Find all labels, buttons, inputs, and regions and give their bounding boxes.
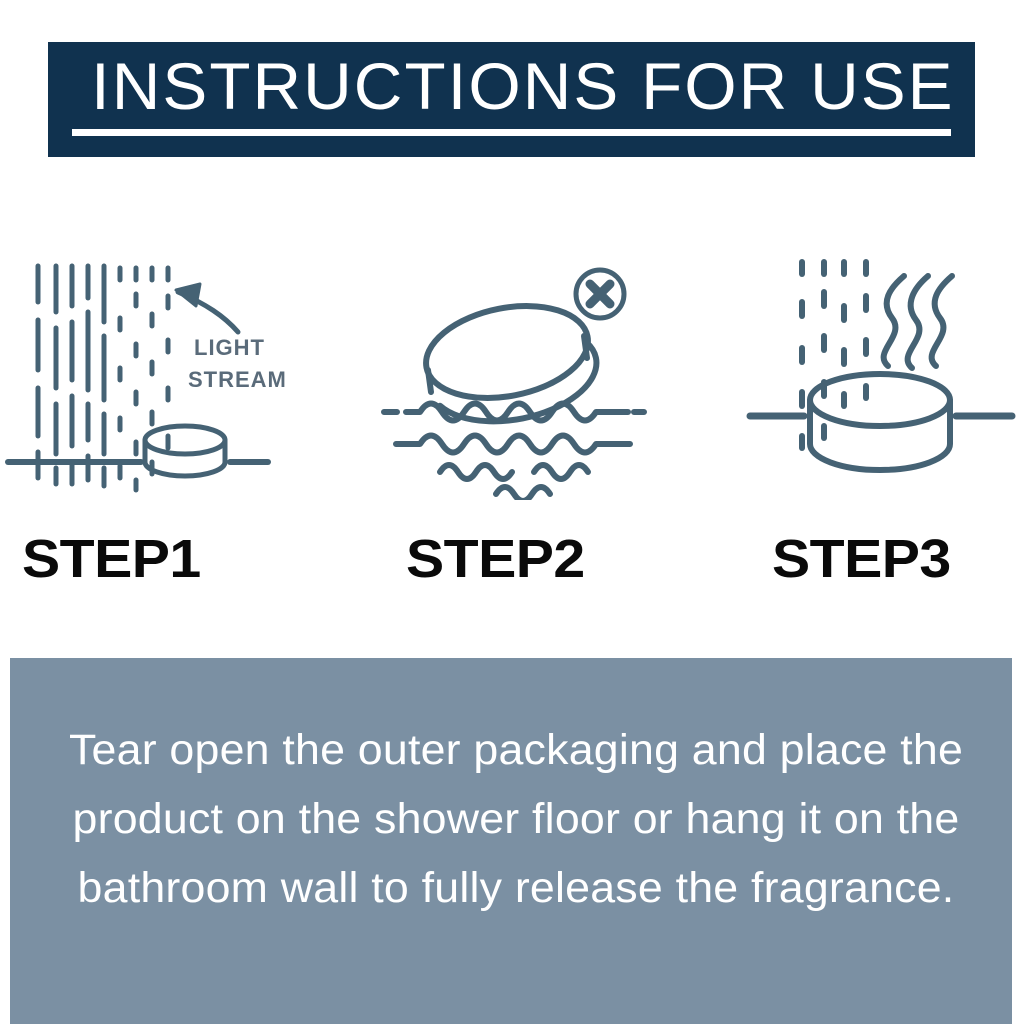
description-line-2: product on the shower floor or hang it o… — [48, 785, 984, 854]
step3-label: STEP3 — [772, 528, 951, 590]
step-icons-row: LIGHT STREAM — [0, 240, 1024, 500]
title-underline-rule — [72, 129, 951, 136]
up-left-arrow — [176, 284, 238, 332]
step1-illustration: LIGHT STREAM — [0, 240, 300, 500]
description-text: Tear open the outer packaging and place … — [48, 716, 984, 923]
disc-puck — [145, 426, 225, 476]
shower-stream-with-disc-icon: LIGHT STREAM — [0, 240, 300, 500]
light-stream-label-line1: LIGHT — [194, 335, 265, 360]
prohibition-circle-x — [576, 270, 624, 318]
water-stream-lines — [38, 266, 104, 486]
steam-swirls — [884, 276, 952, 368]
light-stream-label-line2: STREAM — [188, 367, 287, 392]
step-labels-row: STEP1 STEP2 STEP3 — [0, 528, 1024, 598]
disc-puck-large — [810, 374, 950, 470]
description-panel: Tear open the outer packaging and place … — [10, 658, 1012, 1024]
disc-releasing-fragrance-icon — [740, 240, 1024, 500]
disc-in-water-prohibited-icon — [362, 240, 662, 500]
step1-label: STEP1 — [22, 528, 201, 590]
step3-illustration — [740, 240, 1024, 500]
instructions-infographic: INSTRUCTIONS FOR USE — [0, 0, 1024, 1024]
description-line-1: Tear open the outer packaging and place … — [48, 716, 984, 785]
step2-illustration — [362, 240, 662, 500]
description-line-3: bathroom wall to fully release the fragr… — [48, 854, 984, 923]
header-banner: INSTRUCTIONS FOR USE — [48, 42, 975, 157]
step2-label: STEP2 — [406, 528, 585, 590]
page-title: INSTRUCTIONS FOR USE — [74, 48, 972, 124]
